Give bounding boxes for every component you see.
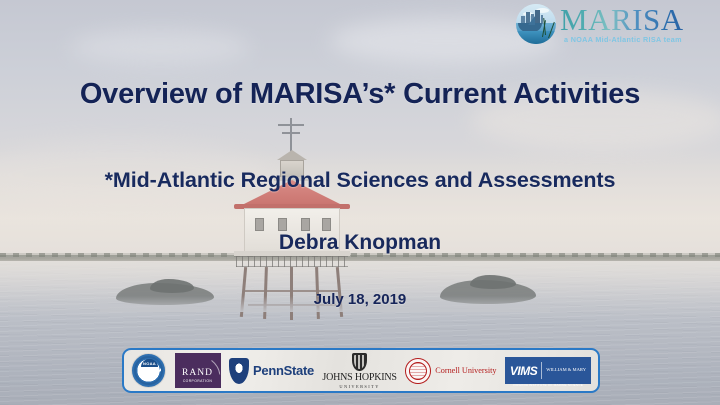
rand-name: RAND <box>175 368 221 378</box>
johns-hopkins-name: JOHNS HOPKINS <box>322 372 396 383</box>
presenter-name: Debra Knopman <box>0 231 720 255</box>
vims-name: VIMS <box>510 364 537 378</box>
lighthouse-window <box>255 218 264 231</box>
lighthouse-window <box>278 218 287 231</box>
rand-wordmark-box: RAND CORPORATION <box>175 353 221 388</box>
noaa-seal-icon: NOAA <box>131 353 166 388</box>
lighthouse-window <box>301 218 310 231</box>
partner-logo-pennstate: PennState <box>229 353 314 389</box>
lighthouse <box>222 118 362 308</box>
marisa-emblem-icon <box>516 4 556 44</box>
partner-logo-bar: NOAA RAND CORPORATION PennState JOHNS HO… <box>122 348 600 393</box>
johns-hopkins-subname: UNIVERSITY <box>339 384 379 389</box>
vims-william-and-mary: WILLIAM & MARY <box>546 367 586 373</box>
rock-cluster-right <box>470 275 516 289</box>
marisa-tagline: a NOAA Mid-Atlantic RISA team <box>564 35 682 44</box>
emblem-sail <box>528 16 535 25</box>
lighthouse-antenna-crossbar <box>278 124 304 126</box>
cornell-name: Cornell University <box>435 366 496 375</box>
presentation-date: July 18, 2019 <box>0 291 720 308</box>
partner-logo-vims: VIMS WILLIAM & MARY VIRGINIA INSTITUTE O… <box>505 353 591 389</box>
slide-title: Overview of MARISA’s* Current Activities <box>0 78 720 111</box>
cornell-seal-icon <box>405 358 431 384</box>
marisa-logo: MARISA a NOAA Mid-Atlantic RISA team <box>508 2 716 50</box>
partner-logo-johns-hopkins: JOHNS HOPKINS UNIVERSITY <box>322 353 396 389</box>
partner-logo-cornell: Cornell University <box>405 353 496 389</box>
johns-hopkins-crest-icon <box>352 353 367 371</box>
lighthouse-railing <box>236 256 348 267</box>
lighthouse-window <box>322 218 331 231</box>
presentation-slide: MARISA a NOAA Mid-Atlantic RISA team Ove… <box>0 0 720 405</box>
marisa-wordmark: MARISA <box>560 2 684 38</box>
vims-institute-name: VIRGINIA INSTITUTE OF MARINE SCIENCE <box>505 383 591 387</box>
noaa-label: NOAA <box>143 361 156 366</box>
pennstate-name: PennState <box>253 363 314 378</box>
vims-divider <box>541 362 542 379</box>
lighthouse-antenna-crossbar <box>282 132 300 134</box>
rand-subname: CORPORATION <box>175 379 221 383</box>
partner-logo-noaa: NOAA <box>131 353 166 389</box>
vims-wordmark-box: VIMS WILLIAM & MARY <box>505 357 591 384</box>
background-photograph <box>0 0 720 405</box>
nittany-lion-shield-icon <box>229 358 249 384</box>
partner-logo-rand: RAND CORPORATION <box>175 353 221 389</box>
cloud <box>70 30 250 64</box>
lantern-roof <box>277 150 307 160</box>
slide-subtitle: *Mid-Atlantic Regional Sciences and Asse… <box>0 168 720 193</box>
